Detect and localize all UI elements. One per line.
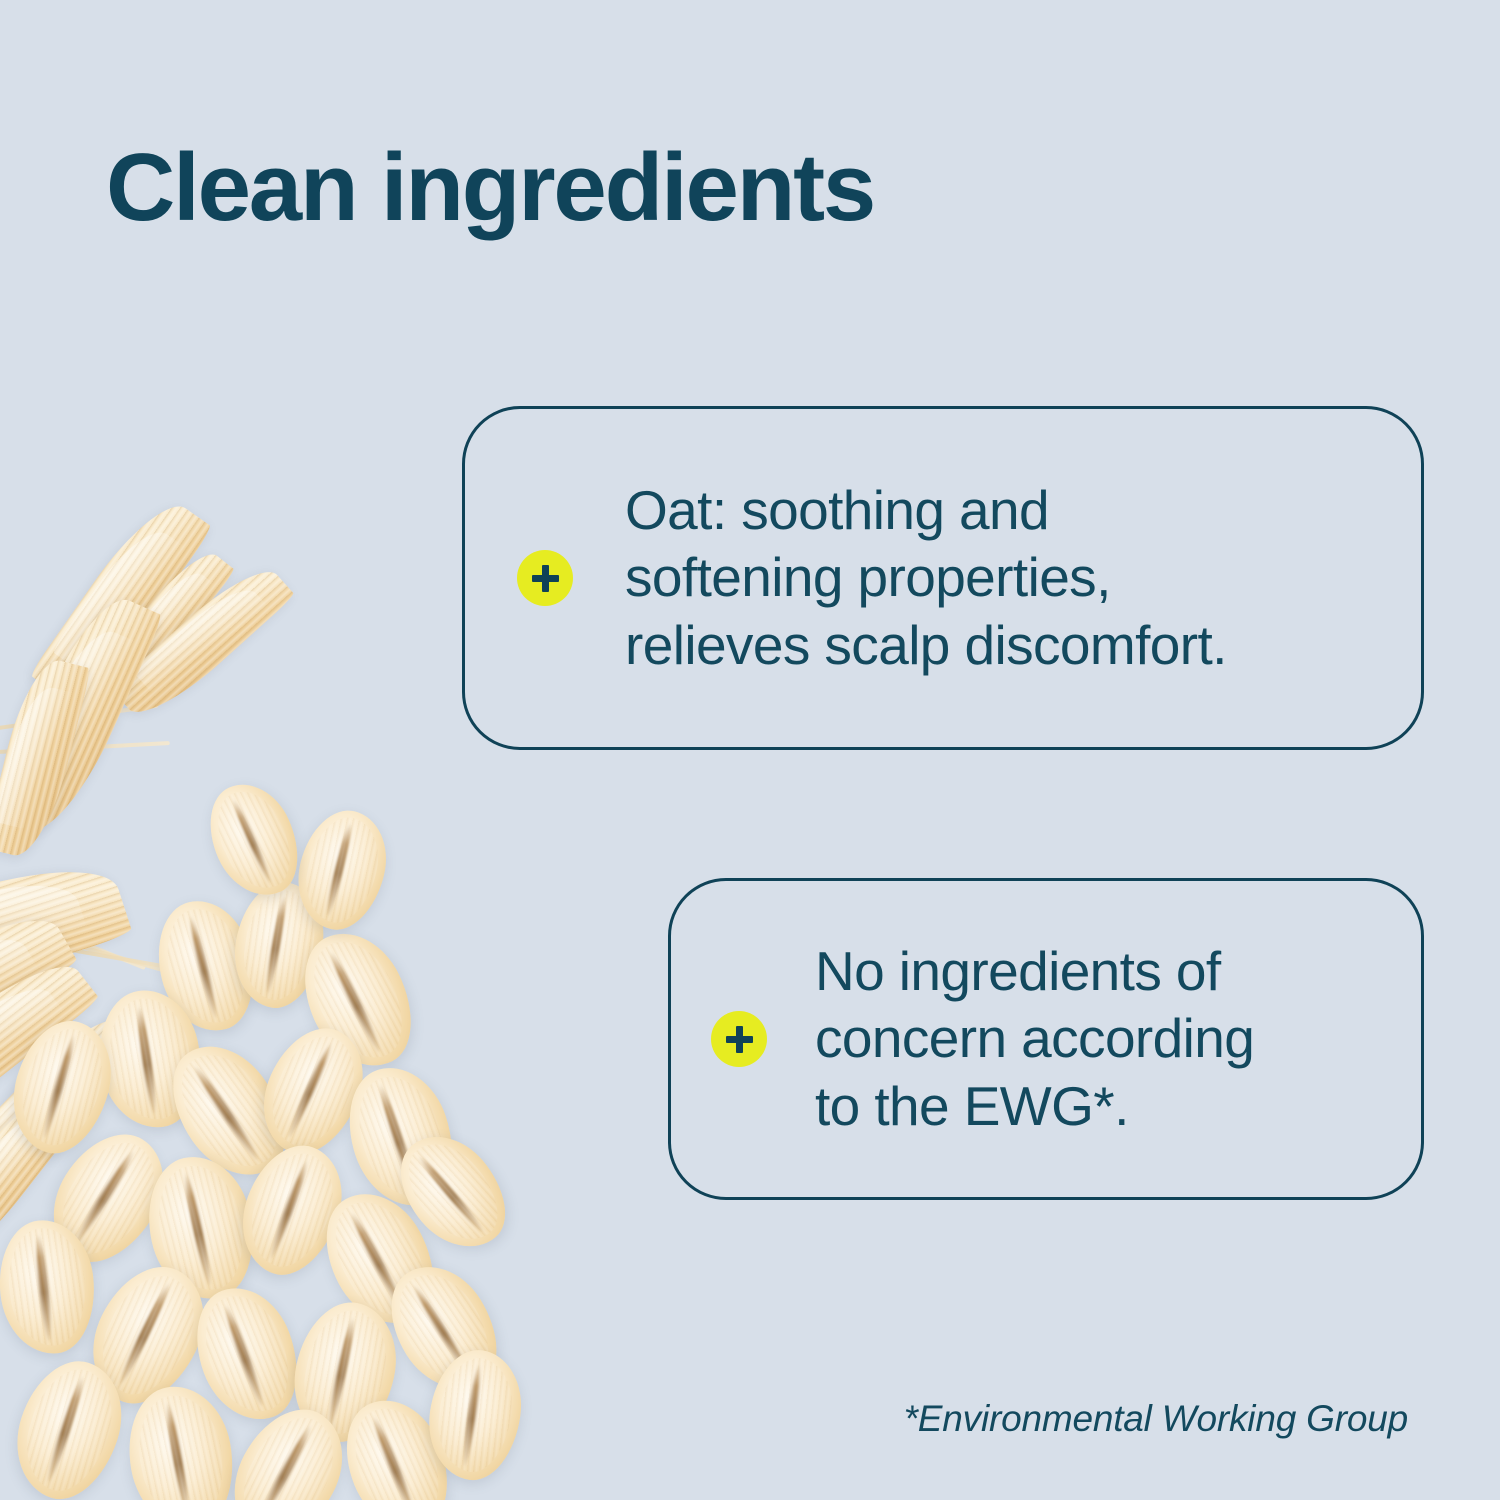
plus-badge-oat bbox=[517, 550, 573, 606]
promo-panel: Clean ingredients Oat: soothing and soft… bbox=[0, 0, 1500, 1500]
info-card-oat: Oat: soothing and softening properties, … bbox=[462, 406, 1424, 750]
plus-icon-cross bbox=[726, 1036, 753, 1043]
page-title: Clean ingredients bbox=[106, 136, 874, 240]
info-card-oat-text: Oat: soothing and softening properties, … bbox=[625, 477, 1227, 678]
info-card-ewg: No ingredients of concern according to t… bbox=[668, 878, 1424, 1200]
info-card-ewg-text: No ingredients of concern according to t… bbox=[815, 938, 1254, 1139]
plus-badge-ewg bbox=[711, 1011, 767, 1067]
footnote-text: *Environmental Working Group bbox=[838, 1398, 1408, 1440]
plus-icon-cross bbox=[532, 575, 559, 582]
